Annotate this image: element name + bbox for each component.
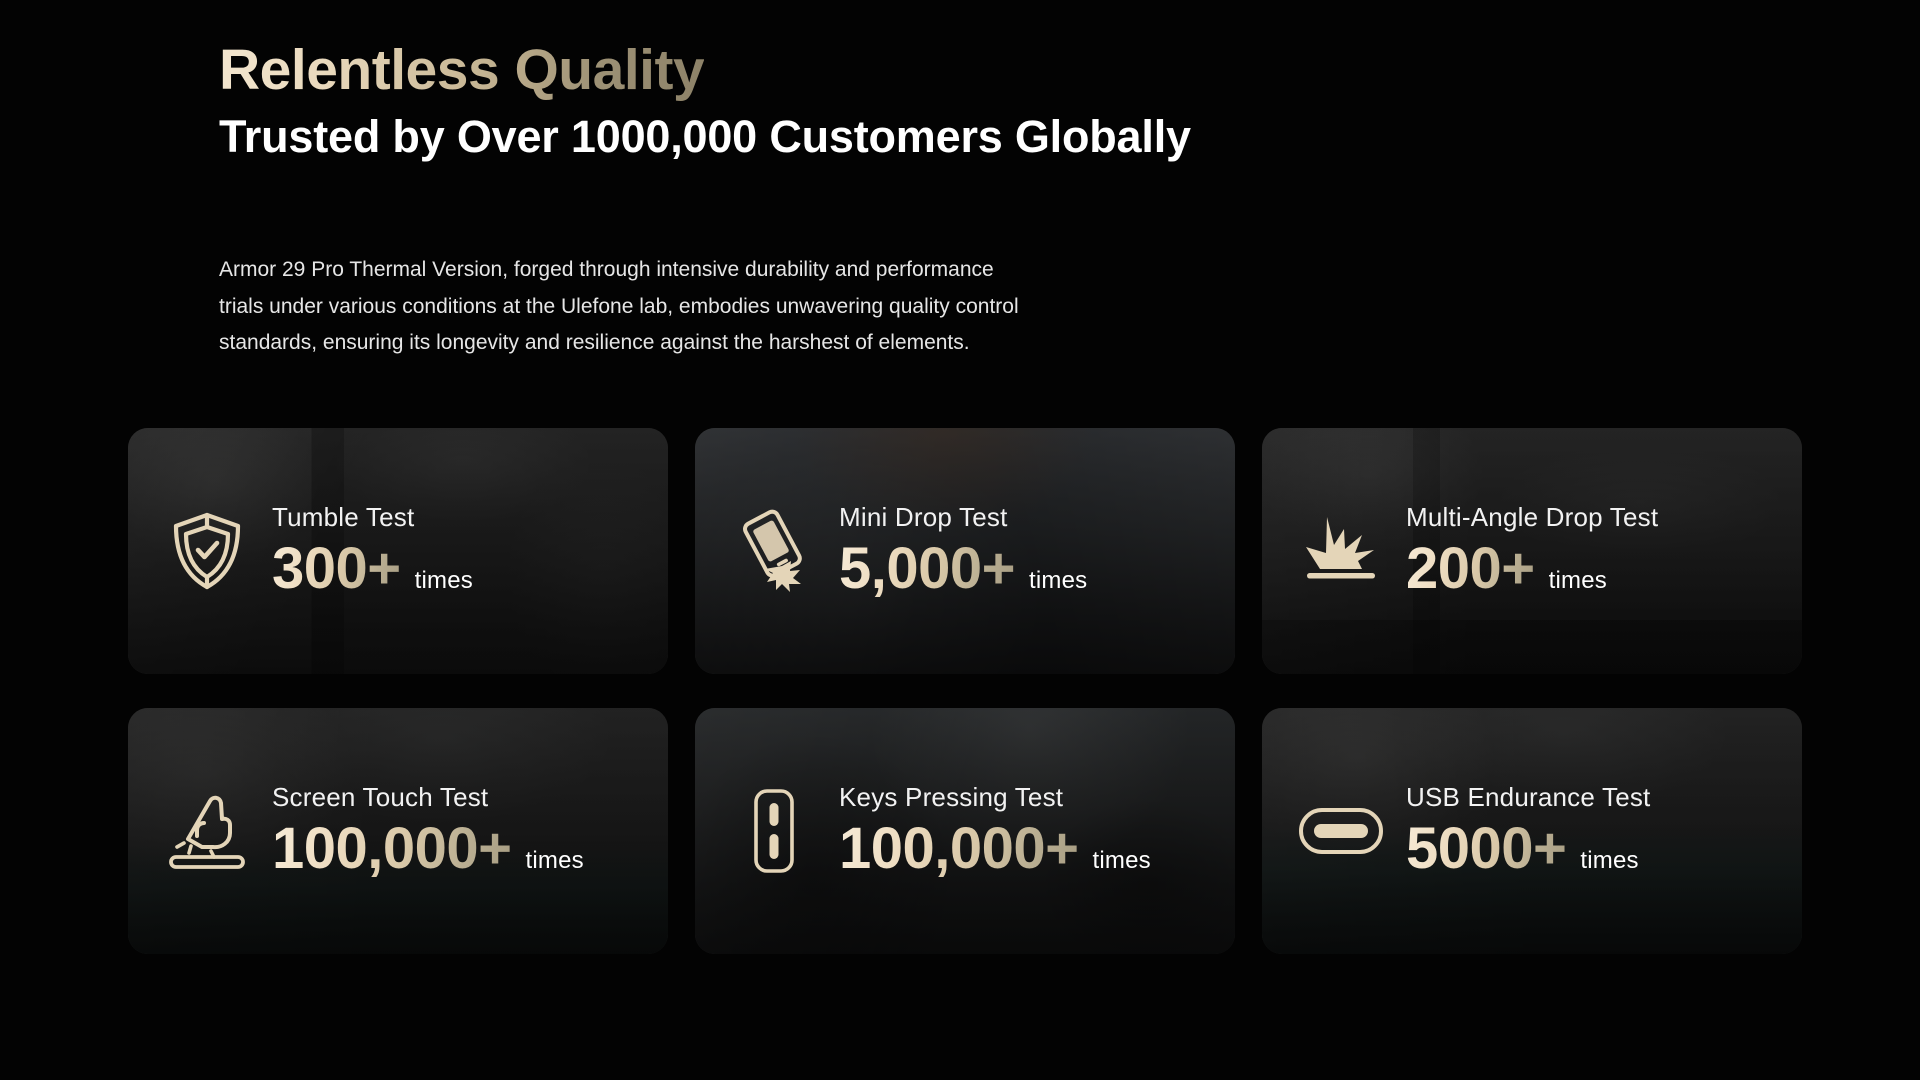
card-stat: 200+ times (1406, 538, 1658, 601)
side-keys-buttons-icon (731, 788, 817, 874)
section-description: Armor 29 Pro Thermal Version, forged thr… (219, 252, 1229, 362)
card-stat-value: 100,000+ (272, 818, 512, 881)
card-text-block: Keys Pressing Test 100,000+ times (839, 782, 1151, 881)
finger-tap-screen-icon (164, 788, 250, 874)
card-stat: 300+ times (272, 538, 473, 601)
test-card[interactable]: Tumble Test 300+ times (128, 428, 668, 674)
description-line-2: trials under various conditions at the U… (219, 289, 1229, 326)
test-card[interactable]: Multi-Angle Drop Test 200+ times (1262, 428, 1802, 674)
quality-section: Relentless Quality Trusted by Over 1000,… (0, 0, 1920, 1080)
card-text-block: USB Endurance Test 5000+ times (1406, 782, 1650, 881)
test-card[interactable]: Screen Touch Test 100,000+ times (128, 708, 668, 954)
card-stat-value: 200+ (1406, 538, 1535, 601)
card-title: Screen Touch Test (272, 782, 584, 813)
shield-check-icon (164, 508, 250, 594)
card-stat: 100,000+ times (839, 818, 1151, 881)
test-card[interactable]: USB Endurance Test 5000+ times (1262, 708, 1802, 954)
multi-angle-impact-burst-icon (1298, 508, 1384, 594)
card-stat-unit: times (1093, 847, 1151, 875)
card-title: Mini Drop Test (839, 502, 1087, 533)
usb-c-port-icon (1298, 788, 1384, 874)
card-stat: 100,000+ times (272, 818, 584, 881)
card-stat: 5000+ times (1406, 818, 1650, 881)
card-stat: 5,000+ times (839, 538, 1087, 601)
card-text-block: Tumble Test 300+ times (272, 502, 473, 601)
card-title: USB Endurance Test (1406, 782, 1650, 813)
description-line-3: standards, ensuring its longevity and re… (219, 325, 1229, 362)
phone-drop-impact-icon (731, 508, 817, 594)
card-text-block: Multi-Angle Drop Test 200+ times (1406, 502, 1658, 601)
card-text-block: Screen Touch Test 100,000+ times (272, 782, 584, 881)
card-title: Multi-Angle Drop Test (1406, 502, 1658, 533)
card-stat-unit: times (415, 567, 473, 595)
test-card[interactable]: Mini Drop Test 5,000+ times (695, 428, 1235, 674)
card-stat-value: 300+ (272, 538, 401, 601)
test-cards-grid: Tumble Test 300+ times (128, 428, 1796, 954)
card-text-block: Mini Drop Test 5,000+ times (839, 502, 1087, 601)
section-headline: Trusted by Over 1000,000 Customers Globa… (219, 111, 1619, 163)
card-stat-unit: times (1029, 567, 1087, 595)
card-stat-value: 5,000+ (839, 538, 1015, 601)
card-title: Keys Pressing Test (839, 782, 1151, 813)
card-stat-value: 5000+ (1406, 818, 1566, 881)
card-stat-unit: times (1580, 847, 1638, 875)
card-title: Tumble Test (272, 502, 473, 533)
card-stat-unit: times (526, 847, 584, 875)
card-stat-value: 100,000+ (839, 818, 1079, 881)
card-stat-unit: times (1549, 567, 1607, 595)
section-header: Relentless Quality Trusted by Over 1000,… (219, 40, 1619, 163)
section-eyebrow: Relentless Quality (219, 40, 704, 102)
test-card[interactable]: Keys Pressing Test 100,000+ times (695, 708, 1235, 954)
description-line-1: Armor 29 Pro Thermal Version, forged thr… (219, 252, 1229, 289)
